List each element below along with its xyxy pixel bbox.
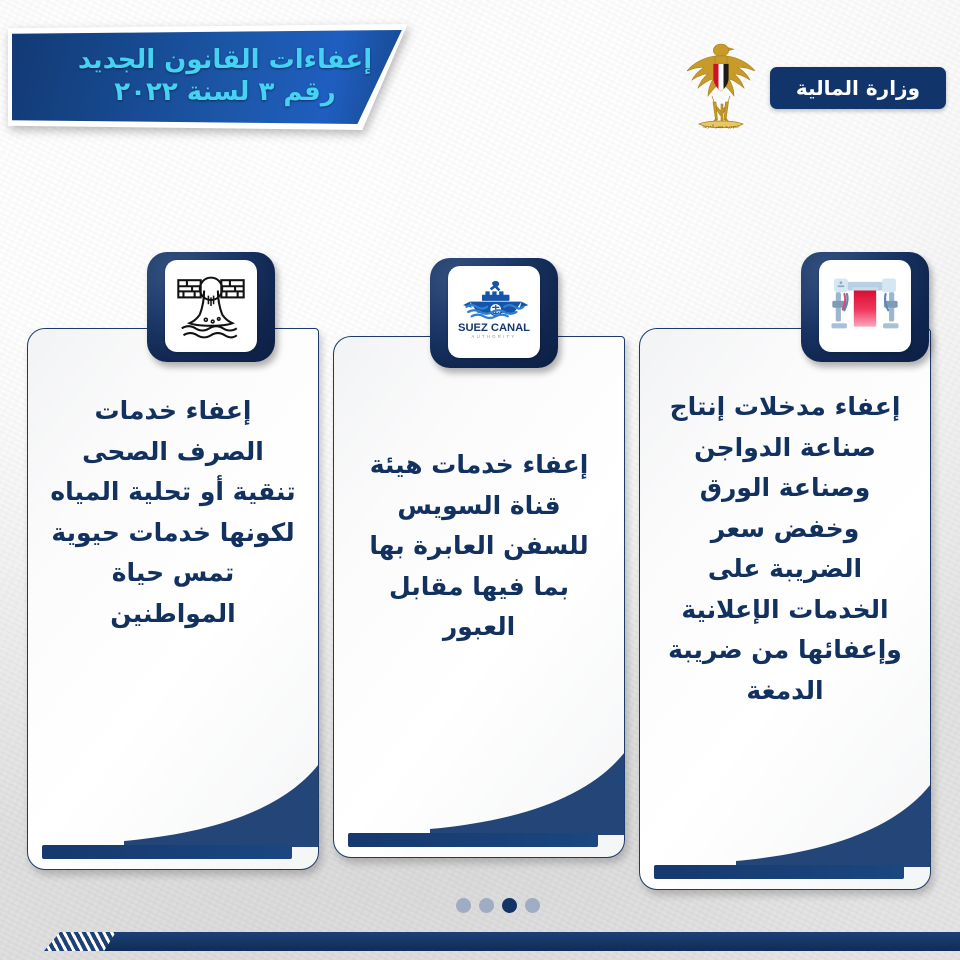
card-3-text: إعفاء خدمات الصرف الصحى تنقية أو تحلية ا… <box>28 329 318 869</box>
printing-press-icon <box>822 263 908 349</box>
banner-fill: إعفاءات القانون الجديد رقم ٣ لسنة ٢٠٢٢ <box>12 30 416 124</box>
footer-bar <box>0 928 960 954</box>
footer-bar-fill <box>104 932 960 951</box>
ministry-name-label: وزارة المالية <box>796 76 920 100</box>
suez-canal-caption: SUEZ CANAL <box>458 322 530 334</box>
card-1-icon-badge <box>801 252 929 362</box>
sewage-outfall-pipe-icon <box>168 263 254 349</box>
card-2-bottom-bar <box>348 833 598 847</box>
badge-tile: SUEZ CANAL AUTHORITY <box>448 266 540 358</box>
title-banner: إعفاءات القانون الجديد رقم ٣ لسنة ٢٠٢٢ <box>8 24 420 130</box>
cards-row: إعفاء مدخلات إنتاج صناعة الدواجن وصناعة … <box>0 236 960 866</box>
card-1-bottom-bar <box>654 865 904 879</box>
card-2-icon-badge: SUEZ CANAL AUTHORITY <box>430 258 558 368</box>
card-3-body: إعفاء خدمات الصرف الصحى تنقية أو تحلية ا… <box>27 328 319 870</box>
suez-canal-authority-logo-icon: SUEZ CANAL AUTHORITY <box>451 269 537 355</box>
svg-text:جمهورية مصر العربية: جمهورية مصر العربية <box>702 124 739 129</box>
pagination-dot-1[interactable] <box>525 898 540 913</box>
pagination-dots[interactable] <box>456 898 540 913</box>
card-poultry-paper-advertising[interactable]: إعفاء مدخلات إنتاج صناعة الدواجن وصناعة … <box>641 236 931 890</box>
pagination-dot-3[interactable] <box>479 898 494 913</box>
card-1-body: إعفاء مدخلات إنتاج صناعة الدواجن وصناعة … <box>639 328 931 890</box>
card-3-bottom-bar <box>42 845 292 859</box>
eagle-of-saladin-emblem-icon: جمهورية مصر العربية <box>682 40 760 136</box>
banner-title-line2: رقم ٣ لسنة ٢٠٢٢ <box>114 77 336 109</box>
pagination-dot-4[interactable] <box>456 898 471 913</box>
ministry-name-pill: وزارة المالية <box>770 67 946 109</box>
badge-tile <box>819 260 911 352</box>
ministry-logo-block: وزارة المالية <box>682 40 946 136</box>
suez-canal-subcaption: AUTHORITY <box>472 334 517 339</box>
card-suez-canal[interactable]: SUEZ CANAL AUTHORITY إعفاء خدمات هيئة قن… <box>335 236 625 858</box>
card-1-text: إعفاء مدخلات إنتاج صناعة الدواجن وصناعة … <box>640 329 930 889</box>
card-2-text: إعفاء خدمات هيئة قناة السويس للسفن العاب… <box>334 337 624 857</box>
card-3-icon-badge <box>147 252 275 362</box>
banner-title-line1: إعفاءات القانون الجديد <box>78 45 372 77</box>
badge-tile <box>165 260 257 352</box>
card-sanitation-water[interactable]: إعفاء خدمات الصرف الصحى تنقية أو تحلية ا… <box>29 236 319 870</box>
card-2-body: إعفاء خدمات هيئة قناة السويس للسفن العاب… <box>333 336 625 858</box>
pagination-dot-2[interactable] <box>502 898 517 913</box>
